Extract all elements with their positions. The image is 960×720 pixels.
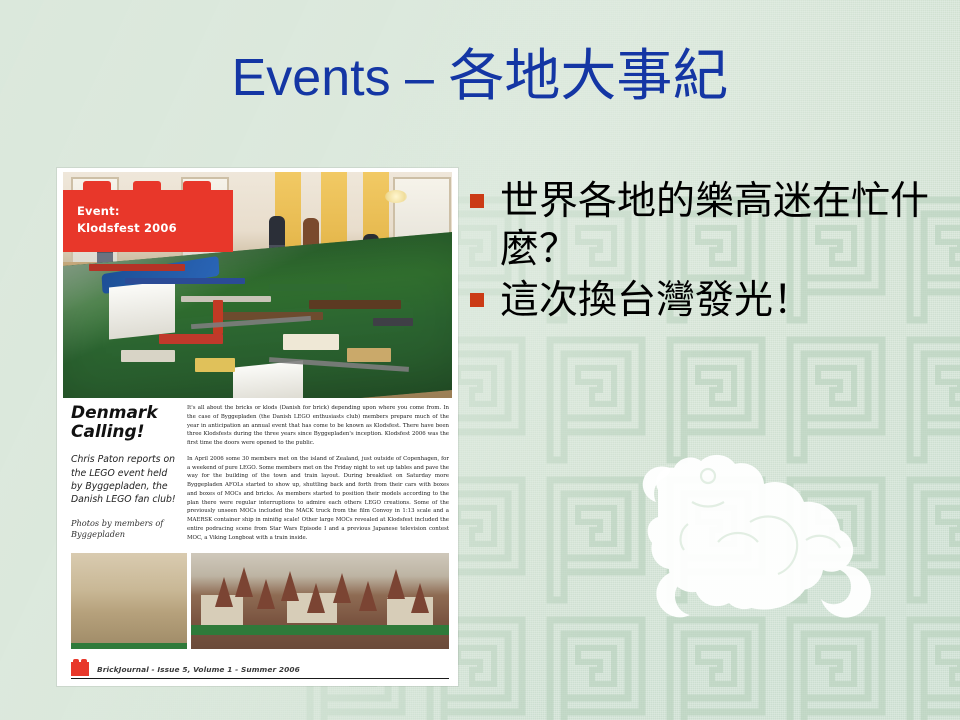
footer-text: BrickJournal - Issue 5, Volume 1 - Summe…	[97, 665, 300, 674]
headline-line2: Calling!	[71, 422, 144, 442]
magazine-page-image[interactable]: Event: Klodsfest 2006 Denmark Calling! C…	[57, 168, 458, 686]
square-bullet-icon	[470, 194, 484, 208]
photo-credit: Photos by members of Byggepladen	[71, 518, 181, 541]
list-item[interactable]: 世界各地的樂高迷在忙什麼？	[470, 178, 940, 273]
headline-line1: Denmark	[71, 403, 158, 423]
presentation-slide: Events – 各地大事紀 世界各地的樂高迷在忙什麼？ 這次換台灣發光！	[0, 0, 960, 720]
article-body: It's all about the bricks or klods (Dani…	[187, 404, 449, 549]
builder-with-buildings-photo	[71, 553, 187, 649]
article-headline-block: Denmark Calling! Chris Paton reports on …	[71, 404, 181, 541]
page-title-cjk: 各地大事紀	[448, 44, 728, 109]
page-title-latin: Events –	[232, 49, 449, 107]
lego-landscape-photo	[191, 553, 449, 649]
list-item[interactable]: 這次換台灣發光！	[470, 277, 940, 325]
article-standfirst: Chris Paton reports on the LEGO event he…	[71, 453, 181, 507]
event-banner-line1: Event:	[77, 204, 120, 218]
lego-city-layout-photo: Event: Klodsfest 2006	[63, 172, 452, 398]
event-banner-line2: Klodsfest 2006	[77, 221, 177, 235]
article-paragraph: It's all about the bricks or klods (Dani…	[187, 404, 449, 448]
lego-brick-icon	[71, 662, 89, 676]
event-banner: Event: Klodsfest 2006	[63, 190, 233, 252]
magazine-footer: BrickJournal - Issue 5, Volume 1 - Summe…	[71, 660, 449, 679]
bullet-text: 世界各地的樂高迷在忙什麼？	[500, 178, 940, 273]
square-bullet-icon	[470, 293, 484, 307]
article-paragraph: In April 2006 some 30 members met on the…	[187, 455, 449, 543]
dragon-watermark	[600, 372, 930, 672]
page-title: Events – 各地大事紀	[0, 48, 960, 107]
bullet-text: 這次換台灣發光！	[500, 277, 940, 325]
bullet-list: 世界各地的樂高迷在忙什麼？ 這次換台灣發光！	[470, 178, 940, 329]
